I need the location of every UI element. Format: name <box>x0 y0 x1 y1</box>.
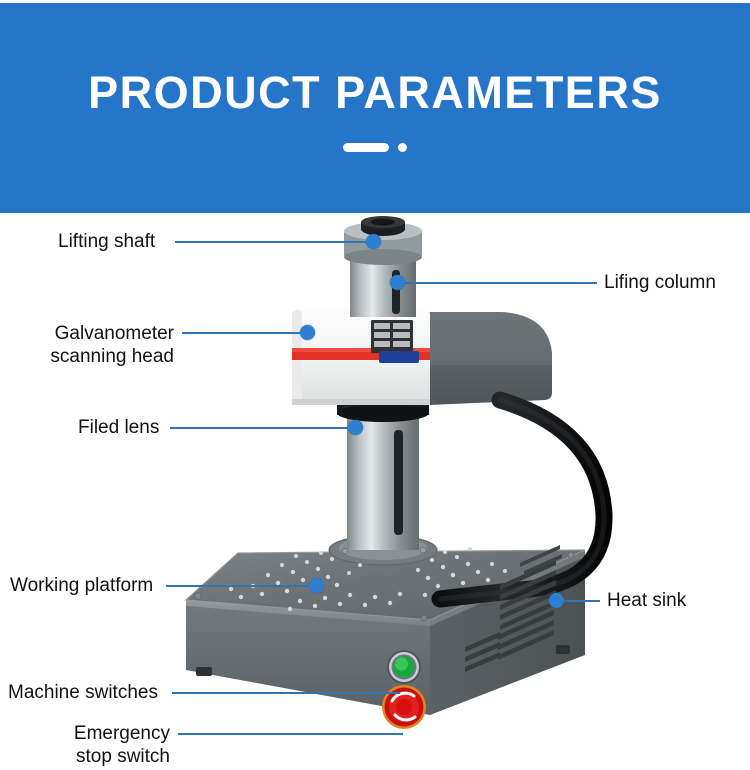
title-decoration <box>0 141 750 153</box>
callout-label-galvanometer-scanning-head: Galvanometer scanning head <box>14 322 174 368</box>
leader-line-galvanometer-scanning-head <box>182 332 308 334</box>
leader-dot-heat-sink <box>549 593 564 608</box>
leader-line-filed-lens <box>170 427 355 429</box>
leader-line-lifing-column <box>397 282 597 284</box>
callout-label-emergency-stop-switch: Emergency stop switch <box>10 722 170 768</box>
product-parameters-page: PRODUCT PARAMETERS <box>0 0 750 770</box>
callout-label-lifting-shaft: Lifting shaft <box>58 230 155 253</box>
leader-dot-lifing-column <box>390 275 405 290</box>
callout-label-filed-lens: Filed lens <box>78 416 159 439</box>
page-title: PRODUCT PARAMETERS <box>0 65 750 121</box>
callout-label-working-platform: Working platform <box>10 574 153 597</box>
leader-line-heat-sink <box>558 600 600 602</box>
leader-dot-lifting-shaft <box>366 234 381 249</box>
callout-label-machine-switches: Machine switches <box>8 681 158 704</box>
leader-dot-working-platform <box>309 578 324 593</box>
leader-line-machine-switches <box>172 692 400 694</box>
leader-dot-galvanometer-scanning-head <box>300 325 315 340</box>
header-banner: PRODUCT PARAMETERS <box>0 3 750 213</box>
leader-line-lifting-shaft <box>175 241 375 243</box>
leader-line-working-platform <box>166 585 316 587</box>
callout-label-lifing-column: Lifing column <box>604 271 716 294</box>
leader-line-emergency-stop-switch <box>178 733 403 735</box>
callout-label-heat-sink: Heat sink <box>607 589 686 612</box>
leader-dot-filed-lens <box>348 420 363 435</box>
decoration-dot-icon <box>398 143 407 152</box>
decoration-bar-icon <box>343 143 389 152</box>
